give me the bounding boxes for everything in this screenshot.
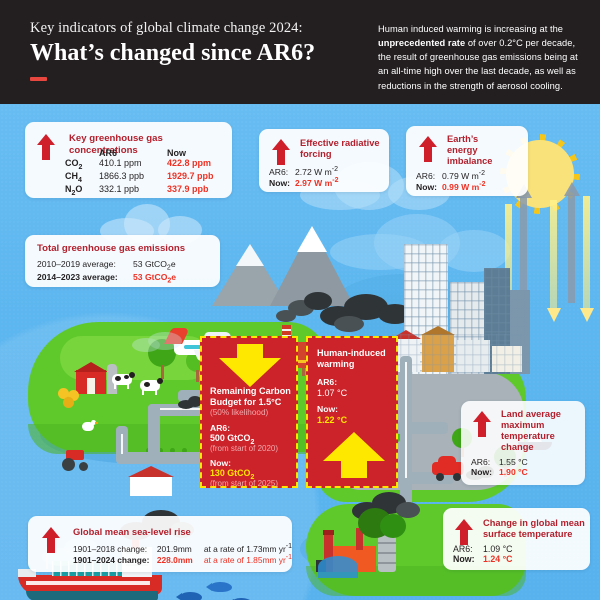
card-title: Effective radiative forcing <box>300 138 384 160</box>
label-now: Now: <box>471 467 499 477</box>
redbox-label-now: Now: <box>210 458 231 468</box>
redbox-title-line1: Remaining Carbon <box>210 386 291 396</box>
redbox-value-ar6: 1.07 °C <box>317 388 347 398</box>
table-row: AR6: 1.55 °C <box>471 457 528 467</box>
card-energy-imbalance: Earth’s energy imbalance AR6: 0.79 W m-2… <box>406 126 528 196</box>
header-summary: Human induced warming is increasing at t… <box>378 22 578 93</box>
table-row: N2O 332.1 ppb 337.9 ppb <box>65 184 214 197</box>
card-radiative-forcing: Effective radiative forcing AR6: 2.72 W … <box>259 129 389 192</box>
down-arrow-icon <box>219 344 281 386</box>
value-now: 337.9 ppb <box>167 184 214 197</box>
card-sea-level-rise: Global mean sea-level rise 1901–2018 cha… <box>28 516 292 572</box>
gas-name-2: O <box>75 184 82 194</box>
redbox-title-line2: warming <box>317 359 354 369</box>
rate-period-2: at a rate of 1.85mm yr <box>204 555 286 565</box>
value-ar6: 1.55 °C <box>499 457 528 467</box>
value-ar6: 410.1 ppm <box>97 158 167 171</box>
redbox-human-warming: Human-induced warming AR6: 1.07 °C Now: … <box>306 336 398 488</box>
label-period-2: 2014–2023 average: <box>37 272 129 285</box>
redbox-value-now: 1.22 °C <box>317 415 347 425</box>
page-title: What’s changed since AR6? <box>30 40 360 68</box>
card-title: Land average maximum temperature change <box>501 409 579 454</box>
card-title: Earth’s energy imbalance <box>447 134 509 167</box>
redbox-carbon-budget: Remaining Carbon Budget for 1.5°C (50% l… <box>200 336 298 488</box>
table-row: 1901–2018 change: 201.9mm at a rate of 1… <box>73 543 292 554</box>
header-kicker: Key indicators of global climate change … <box>30 20 360 37</box>
up-arrow-icon <box>35 134 57 160</box>
value-period-1: 53 GtCO <box>133 259 167 269</box>
road-marking <box>405 362 407 478</box>
value-period-2: 53 GtCO <box>133 272 167 282</box>
value-period-1: 201.9mm <box>151 543 204 554</box>
gas-subscript: 2 <box>79 164 83 171</box>
header-summary-emphasis: unprecedented rate <box>378 38 465 48</box>
value-period-2-suffix: e <box>171 272 176 282</box>
table-row: AR6: 1.09 °C <box>453 544 512 554</box>
value-now: 1.90 °C <box>499 467 528 477</box>
climate-infographic-poster: Key indicators of global climate change … <box>0 0 600 600</box>
table-row: AR6: 2.72 W m-2 <box>269 166 339 177</box>
redbox-note-now: (from start of 2025) <box>210 479 278 488</box>
label-now: Now: <box>453 554 483 564</box>
value-ar6-exponent: -2 <box>479 170 485 177</box>
value-now: 1.24 °C <box>483 554 512 564</box>
up-arrow-icon <box>323 432 385 478</box>
table-row: CO2 410.1 ppm 422.8 ppm <box>65 158 214 171</box>
card-gmst: Change in global mean surface temperatur… <box>443 508 590 570</box>
value-now: 1929.7 ppb <box>167 171 214 184</box>
label-period-1: 1901–2018 change: <box>73 543 151 554</box>
value-ar6: 1.09 °C <box>483 544 512 554</box>
header-title-block: Key indicators of global climate change … <box>30 20 360 81</box>
rate-period-1: at a rate of 1.73mm yr <box>204 544 286 554</box>
value-ar6: 332.1 ppb <box>97 184 167 197</box>
gas-name: CO <box>65 158 79 168</box>
up-arrow-icon <box>453 519 475 545</box>
road-segment <box>116 452 206 464</box>
redbox-label-ar6: AR6: <box>210 423 230 433</box>
table-row: Now: 1.90 °C <box>471 467 528 477</box>
value-now-exponent: -2 <box>332 177 338 184</box>
table-row: AR6: 0.79 W m-2 <box>416 170 486 181</box>
header-summary-pre: Human induced warming is increasing at t… <box>378 24 563 34</box>
redbox-likelihood: (50% likelihood) <box>210 408 268 417</box>
redbox-title-line2: Budget for 1.5°C <box>210 397 281 407</box>
redbox-note-ar6: (from start of 2020) <box>210 444 278 453</box>
road-marking <box>121 434 123 454</box>
column-header-now: Now <box>167 148 214 158</box>
label-ar6: AR6: <box>471 457 499 467</box>
value-now: 0.99 W m <box>442 182 479 192</box>
label-ar6: AR6: <box>269 166 295 177</box>
card-title: Change in global mean surface temperatur… <box>483 518 585 540</box>
table-row: Now: 0.99 W m-2 <box>416 181 486 192</box>
redbox-value-ar6: 500 GtCO <box>210 433 250 443</box>
value-now-exponent: -2 <box>479 181 485 188</box>
redbox-label-now: Now: <box>317 404 338 414</box>
value-ar6: 0.79 W m <box>442 171 479 181</box>
table-row: Now: 1.24 °C <box>453 554 512 564</box>
up-arrow-icon <box>471 411 493 437</box>
up-arrow-icon <box>417 136 439 162</box>
redbox-value-now: 130 GtCO <box>210 468 250 478</box>
redbox-title-line1: Human-induced <box>317 348 386 358</box>
table-row: Now: 2.97 W m-2 <box>269 177 339 188</box>
up-arrow-icon <box>40 527 62 553</box>
value-ar6: 2.72 W m <box>295 167 332 177</box>
card-land-max-temp: Land average maximum temperature change … <box>461 401 585 485</box>
table-row: 2014–2023 average: 53 GtCO2e <box>37 272 176 285</box>
table-row: CH4 1866.3 ppb 1929.7 ppb <box>65 171 214 184</box>
header-accent-dash <box>30 77 47 81</box>
value-ar6: 1866.3 ppb <box>97 171 167 184</box>
gas-name: CH <box>65 171 78 181</box>
label-period-1: 2010–2019 average: <box>37 259 129 272</box>
table-row: 2010–2019 average: 53 GtCO2e <box>37 259 176 272</box>
gas-subscript: 4 <box>78 177 82 184</box>
label-now: Now: <box>416 181 442 192</box>
value-now: 2.97 W m <box>295 178 332 188</box>
rate-period-2-exponent: -1 <box>286 554 292 561</box>
column-header-ar6: AR6 <box>97 148 167 158</box>
value-ar6-exponent: -2 <box>332 166 338 173</box>
rate-period-1-exponent: -1 <box>286 543 292 550</box>
card-title: Total greenhouse gas emissions <box>37 243 185 255</box>
label-ar6: AR6: <box>416 170 442 181</box>
value-period-2: 228.0mm <box>151 554 204 565</box>
poster-header: Key indicators of global climate change … <box>0 0 600 104</box>
label-ar6: AR6: <box>453 544 483 554</box>
value-now: 422.8 ppm <box>167 158 214 171</box>
redbox-label-ar6: AR6: <box>317 377 337 387</box>
label-now: Now: <box>269 177 295 188</box>
card-title: Global mean sea-level rise <box>73 526 191 537</box>
label-period-2: 1901–2024 change: <box>73 554 151 565</box>
value-period-1-suffix: e <box>171 259 176 269</box>
table-row: 1901–2024 change: 228.0mm at a rate of 1… <box>73 554 292 565</box>
card-ghg-concentrations: Key greenhouse gas concentrations AR6 No… <box>25 122 232 198</box>
card-ghg-emissions: Total greenhouse gas emissions 2010–2019… <box>25 235 220 287</box>
up-arrow-icon <box>270 139 292 165</box>
